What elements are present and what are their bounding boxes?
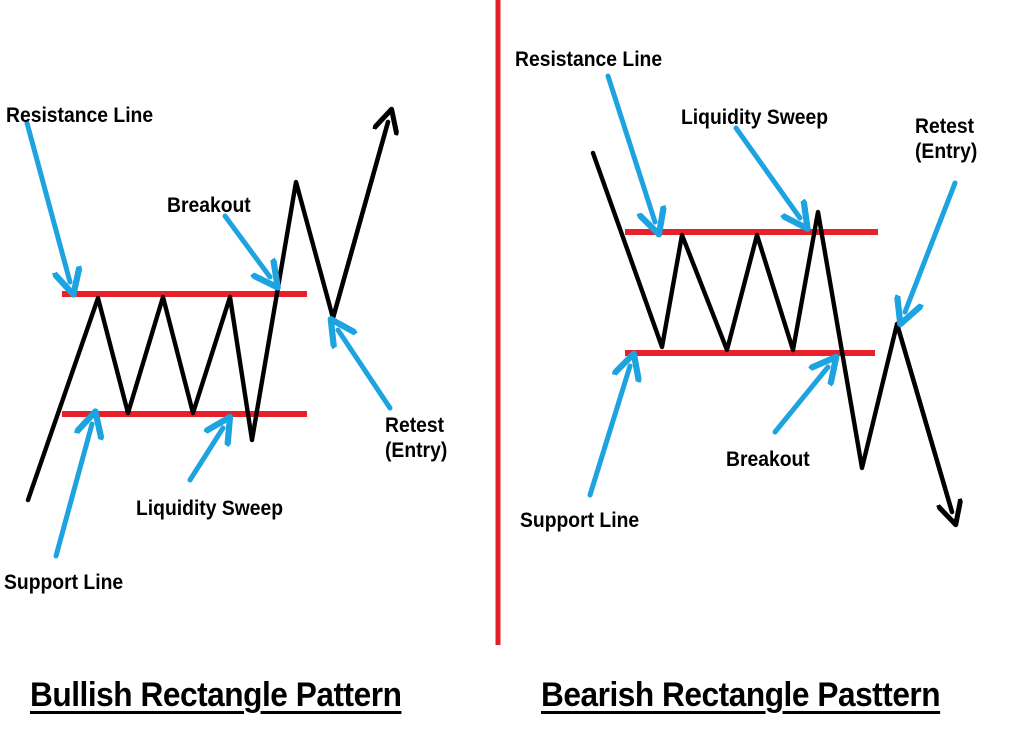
callout-arrow-support-arrow [590, 366, 630, 495]
callout-label-retest-bearish: Retest (Entry) [915, 114, 977, 164]
diagram-root: Bullish Rectangle Pattern Bearish Rectan… [0, 0, 1024, 739]
callout-arrow-resistance-arrow [608, 76, 655, 222]
trend-continuation-arrow-bearish [897, 324, 952, 512]
callout-label-support-bullish: Support Line [4, 570, 123, 595]
callout-label-breakout-bearish: Breakout [726, 447, 810, 472]
callout-label-support-bearish: Support Line [520, 508, 639, 533]
panel-bullish-rectangle [27, 122, 390, 556]
panel-title-bullish: Bullish Rectangle Pattern [30, 676, 401, 715]
callout-arrow-liquidity-arrow [736, 128, 800, 218]
callout-arrow-resistance-arrow [27, 123, 70, 282]
callout-arrow-breakout-arrow [225, 216, 270, 277]
callout-arrow-retest-arrow [338, 330, 390, 408]
panel-title-bearish: Bearish Rectangle Pasttern [541, 676, 940, 715]
callout-label-liquidity-bearish: Liquidity Sweep [681, 105, 828, 130]
callout-arrow-support-arrow [56, 424, 92, 556]
callout-arrow-retest-arrow [905, 183, 955, 312]
pattern-diagram-canvas [0, 0, 1024, 739]
callout-label-liquidity-bullish: Liquidity Sweep [136, 496, 283, 521]
callout-arrow-liquidity-arrow [190, 428, 223, 480]
callout-label-resistance-bullish: Resistance Line [6, 103, 153, 128]
trend-continuation-arrow-bullish [333, 122, 388, 318]
callout-label-breakout-bullish: Breakout [167, 193, 251, 218]
callout-label-resistance-bearish: Resistance Line [515, 47, 662, 72]
callout-label-retest-bullish: Retest (Entry) [385, 413, 447, 463]
callout-arrow-breakout-arrow [775, 367, 828, 432]
